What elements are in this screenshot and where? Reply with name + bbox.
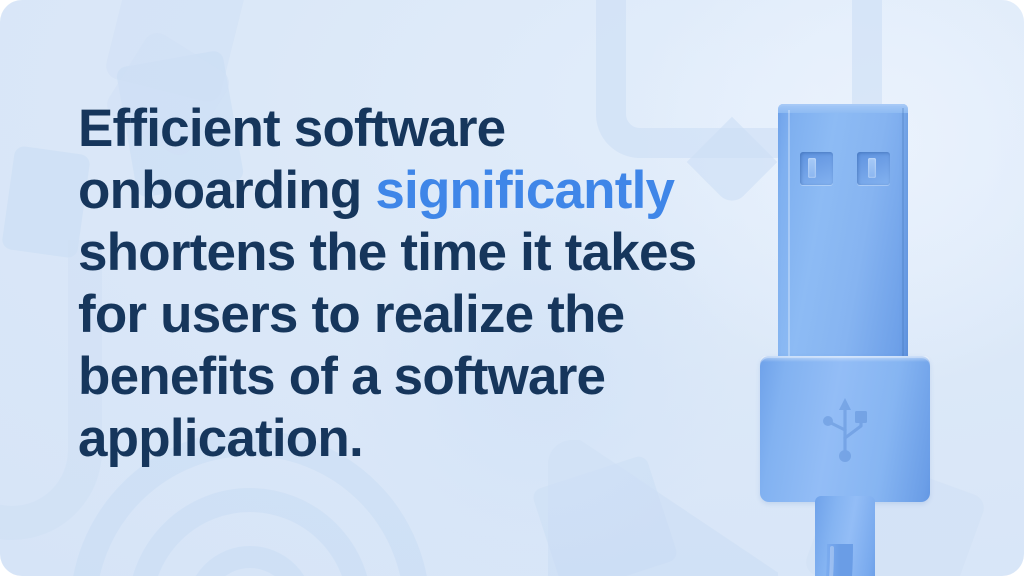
usb-metal-shroud: [778, 104, 908, 364]
usb-shroud-right-seam: [902, 108, 904, 362]
usb-contact-slot-left: [800, 152, 833, 185]
usb-shroud-top-edge: [778, 104, 908, 113]
usb-contact-pin-left: [808, 158, 816, 178]
usb-contact-pin-right: [868, 158, 876, 178]
usb-cable: [740, 544, 960, 576]
quote-card: Efficient software onboarding significan…: [0, 0, 1024, 576]
usb-trident-icon: [814, 396, 876, 466]
usb-connector-illustration: [760, 104, 960, 576]
usb-shroud-left-seam: [788, 110, 790, 360]
headline-highlight: significantly: [375, 161, 674, 220]
page-title: Efficient software onboarding significan…: [78, 98, 718, 470]
usb-body-top-edge: [760, 356, 930, 362]
